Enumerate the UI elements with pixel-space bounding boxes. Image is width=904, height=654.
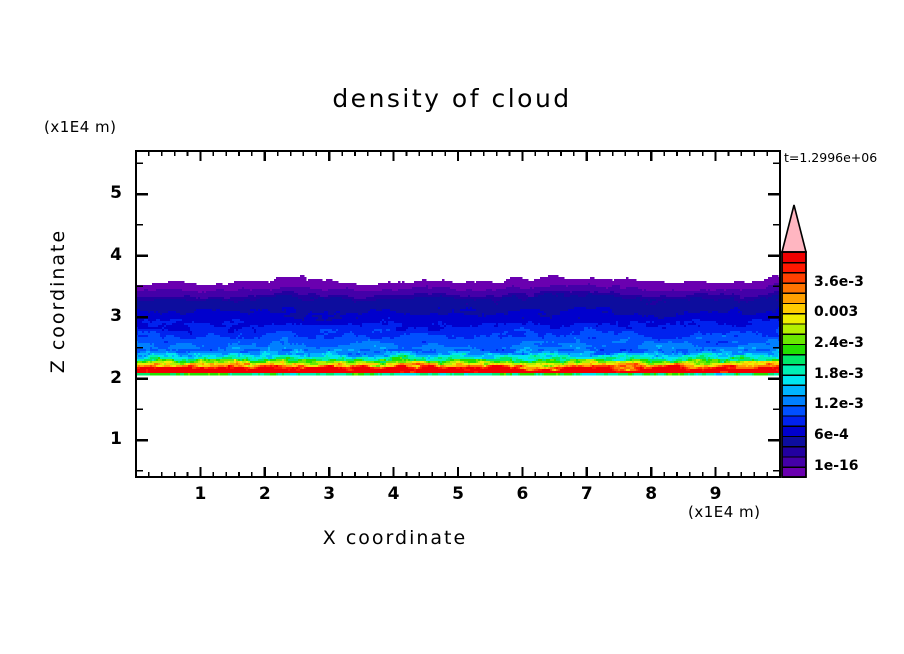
y-tick-label: 2 xyxy=(86,368,122,388)
x-tick-label: 3 xyxy=(309,484,349,504)
y-tick-label: 5 xyxy=(86,183,122,203)
y-tick-label: 1 xyxy=(86,429,122,449)
colorbar xyxy=(782,205,806,477)
x-tick-label: 6 xyxy=(502,484,542,504)
figure-canvas: density of cloud (x1E4 m) t=1.2996e+06 (… xyxy=(0,0,904,654)
x-tick-label: 1 xyxy=(180,484,220,504)
x-tick-label: 5 xyxy=(438,484,478,504)
y-tick-label: 4 xyxy=(86,245,122,265)
colorbar-tick-label: 2.4e-3 xyxy=(814,335,864,351)
colorbar-tick-label: 1e-16 xyxy=(814,458,859,474)
colorbar-tick-label: 3.6e-3 xyxy=(814,274,864,290)
y-tick-label: 3 xyxy=(86,306,122,326)
colorbar-tick-label: 1.8e-3 xyxy=(814,366,864,382)
colorbar-tick-label: 6e-4 xyxy=(814,427,849,443)
x-tick-label: 9 xyxy=(696,484,736,504)
contour-plot xyxy=(0,0,904,654)
x-tick-label: 2 xyxy=(245,484,285,504)
colorbar-tick-label: 0.003 xyxy=(814,304,858,320)
contour-field xyxy=(136,275,781,376)
x-tick-label: 7 xyxy=(567,484,607,504)
colorbar-tick-label: 1.2e-3 xyxy=(814,396,864,412)
x-tick-label: 8 xyxy=(631,484,671,504)
x-tick-label: 4 xyxy=(374,484,414,504)
